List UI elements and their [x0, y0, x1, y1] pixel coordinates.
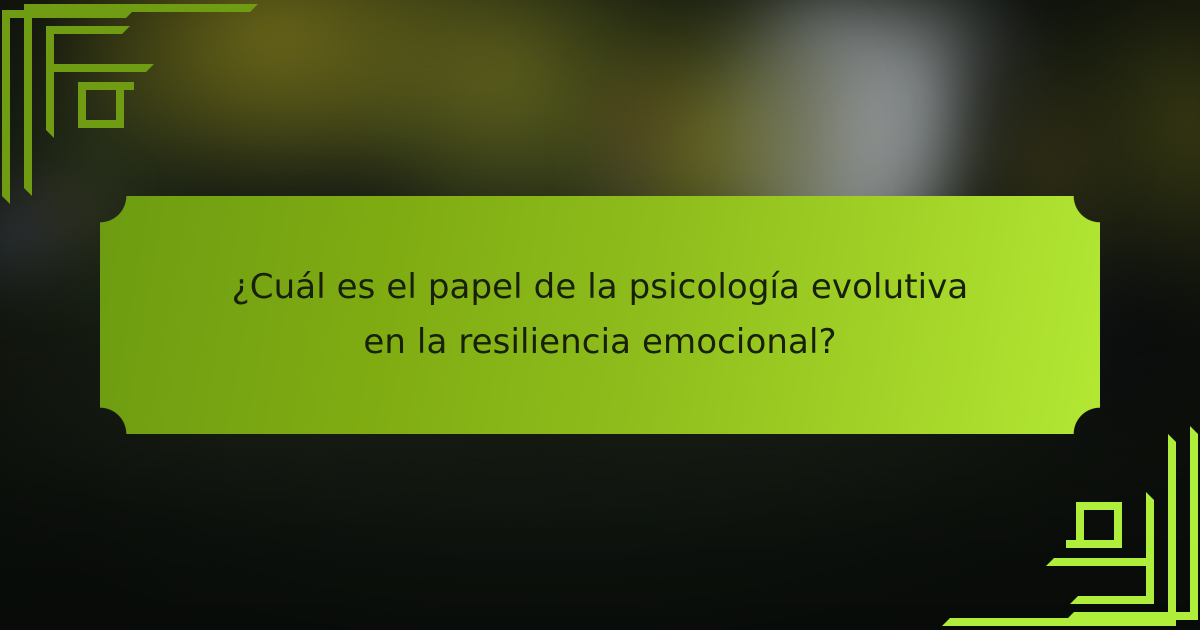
page-title: ¿Cuál es el papel de la psicología evolu…: [100, 260, 1100, 370]
headline-card: ¿Cuál es el papel de la psicología evolu…: [100, 196, 1100, 434]
share-card-canvas: ¿Cuál es el papel de la psicología evolu…: [0, 0, 1200, 630]
